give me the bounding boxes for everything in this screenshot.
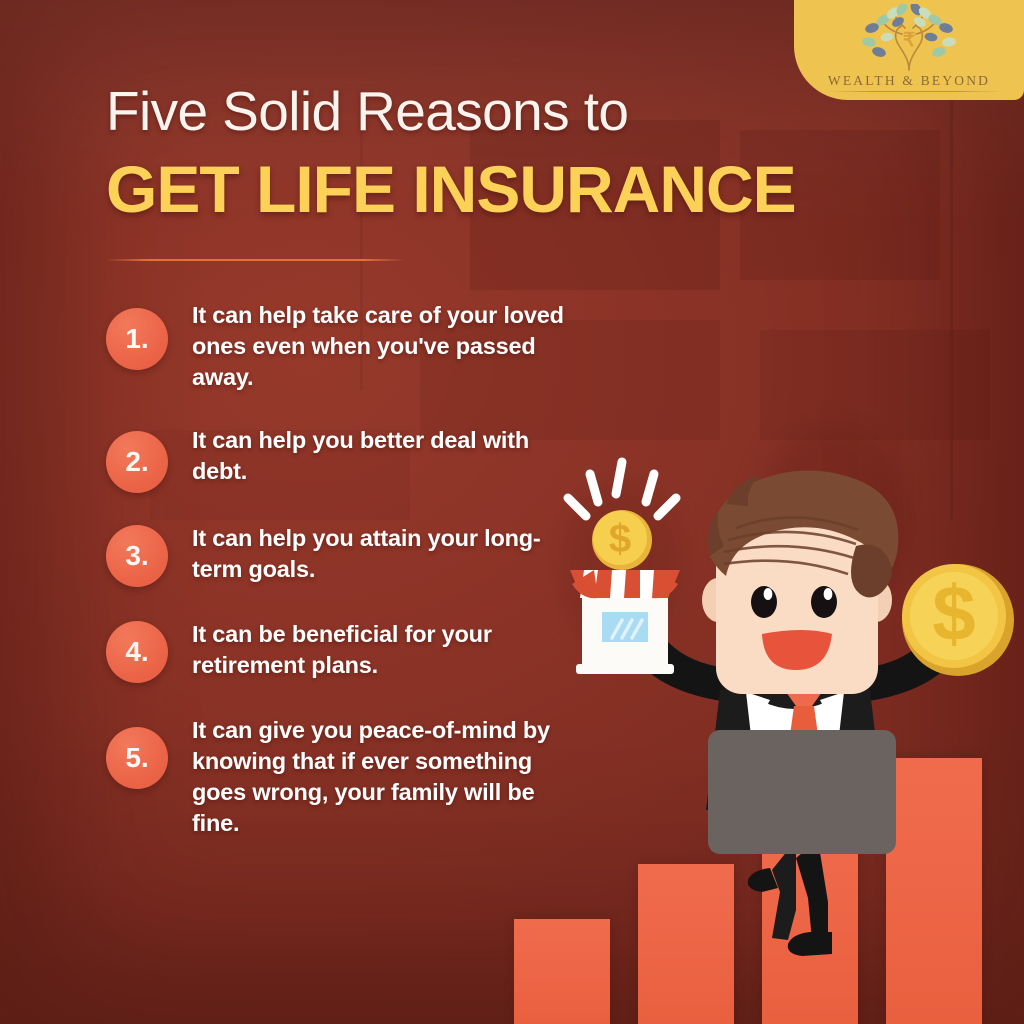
- title-divider: [106, 259, 406, 261]
- list-item-number: 3.: [106, 525, 168, 587]
- logo-badge[interactable]: ₹ WEALTH & BEYOND: [794, 0, 1024, 100]
- list-item-text: It can help you better deal with debt.: [192, 421, 576, 487]
- list-item: 4. It can be beneficial for your retirem…: [106, 615, 576, 683]
- page-title: GET LIFE INSURANCE: [106, 156, 796, 222]
- head-icon: [702, 470, 898, 694]
- gold-dollar-coin-icon: $: [902, 564, 1014, 676]
- shine-rays-icon: [568, 462, 676, 516]
- list-item-text: It can help take care of your loved ones…: [192, 296, 576, 393]
- list-item: 2. It can help you better deal with debt…: [106, 421, 576, 493]
- list-item: 1. It can help take care of your loved o…: [106, 296, 576, 393]
- infographic-poster: ₹ WEALTH & BEYOND Five Solid Reasons to …: [0, 0, 1024, 1024]
- gold-coin-icon: $: [592, 510, 652, 570]
- money-tree-icon: ₹: [839, 4, 979, 77]
- list-item-text: It can help you attain your long-term go…: [192, 519, 576, 585]
- list-item-number: 1.: [106, 308, 168, 370]
- briefcase-icon: [708, 730, 896, 854]
- svg-text:$: $: [609, 517, 631, 561]
- list-item: 3. It can help you attain your long-term…: [106, 519, 576, 587]
- legs-icon: [748, 840, 832, 956]
- page-subtitle: Five Solid Reasons to: [106, 84, 628, 139]
- shop-storefront-icon: $: [562, 462, 688, 674]
- list-item-number: 2.: [106, 431, 168, 493]
- logo-wordmark: WEALTH & BEYOND: [794, 73, 1024, 89]
- list-item-number: 4.: [106, 621, 168, 683]
- svg-text:₹: ₹: [903, 30, 915, 51]
- list-item-text: It can be beneficial for your retirement…: [192, 615, 576, 681]
- businessman-character: $: [560, 440, 1024, 940]
- logo-divider: [828, 91, 1000, 92]
- svg-text:$: $: [932, 569, 975, 657]
